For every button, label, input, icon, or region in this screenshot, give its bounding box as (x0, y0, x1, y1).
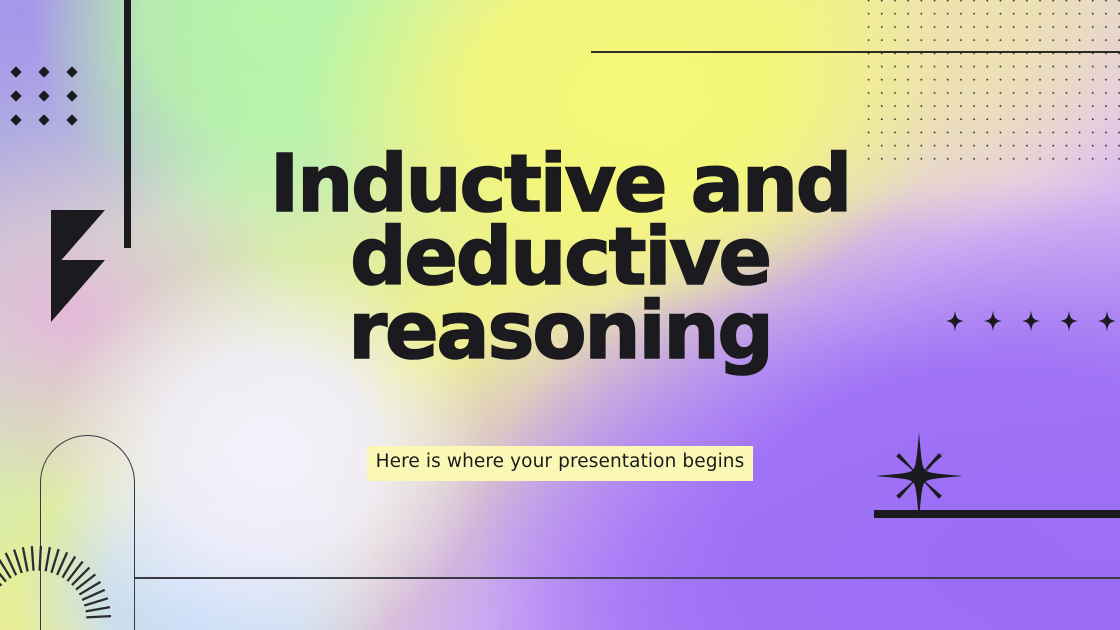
slide-subtitle: Here is where your presentation begins (367, 446, 754, 481)
presentation-slide: Inductive and deductive reasoning Here i… (0, 0, 1120, 630)
dot (38, 114, 49, 125)
dot (38, 66, 49, 77)
dot (10, 66, 21, 77)
dot-grid-icon (12, 68, 96, 140)
dot (66, 114, 77, 125)
slide-subtitle-container: Here is where your presentation begins (0, 446, 1120, 481)
thick-bar (874, 510, 1120, 518)
dot (10, 90, 21, 101)
dot (10, 114, 21, 125)
dot-texture (862, 0, 1120, 168)
slide-title: Inductive and deductive reasoning (0, 148, 1120, 368)
dot (38, 90, 49, 101)
horizontal-rule-bottom (134, 577, 1120, 579)
dot (66, 66, 77, 77)
dot (66, 90, 77, 101)
tick-burst (0, 525, 132, 630)
